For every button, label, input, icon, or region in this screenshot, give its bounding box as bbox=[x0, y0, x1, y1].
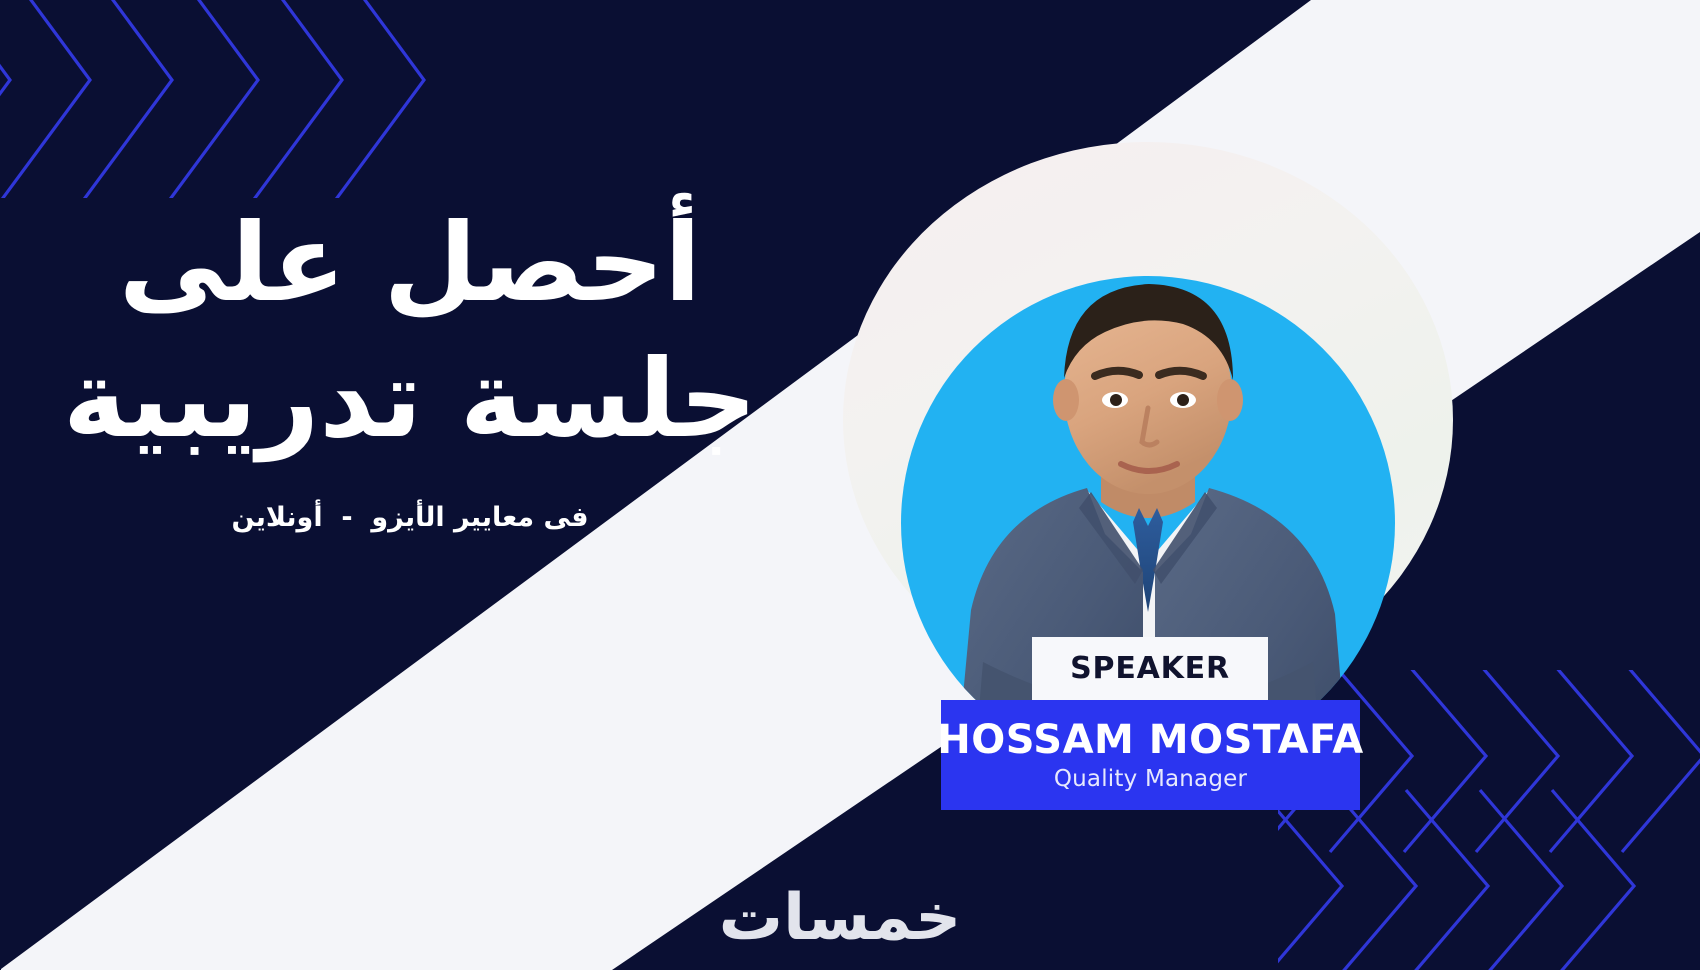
headline-line-2: جلسة تدريبية bbox=[60, 332, 760, 468]
promo-banner: أحصل على جلسة تدريبية فى معايير الأيزو -… bbox=[0, 0, 1700, 970]
headline-block: أحصل على جلسة تدريبية فى معايير الأيزو -… bbox=[60, 196, 760, 533]
speaker-photo-illustration bbox=[843, 142, 1453, 698]
speaker-name-plate: HOSSAM MOSTAFA Quality Manager bbox=[941, 700, 1360, 810]
subtitle: فى معايير الأيزو - أونلاين bbox=[60, 502, 760, 533]
speaker-tag-label: SPEAKER bbox=[1070, 651, 1230, 686]
speaker-portrait bbox=[843, 142, 1453, 698]
headline-line-1: أحصل على bbox=[119, 201, 701, 326]
watermark-khamsat: خمسات bbox=[690, 886, 990, 950]
page-title: أحصل على جلسة تدريبية bbox=[60, 196, 760, 468]
speaker-role: Quality Manager bbox=[1054, 766, 1247, 792]
speaker-name: HOSSAM MOSTAFA bbox=[937, 719, 1363, 761]
speaker-tag: SPEAKER bbox=[1032, 637, 1268, 700]
